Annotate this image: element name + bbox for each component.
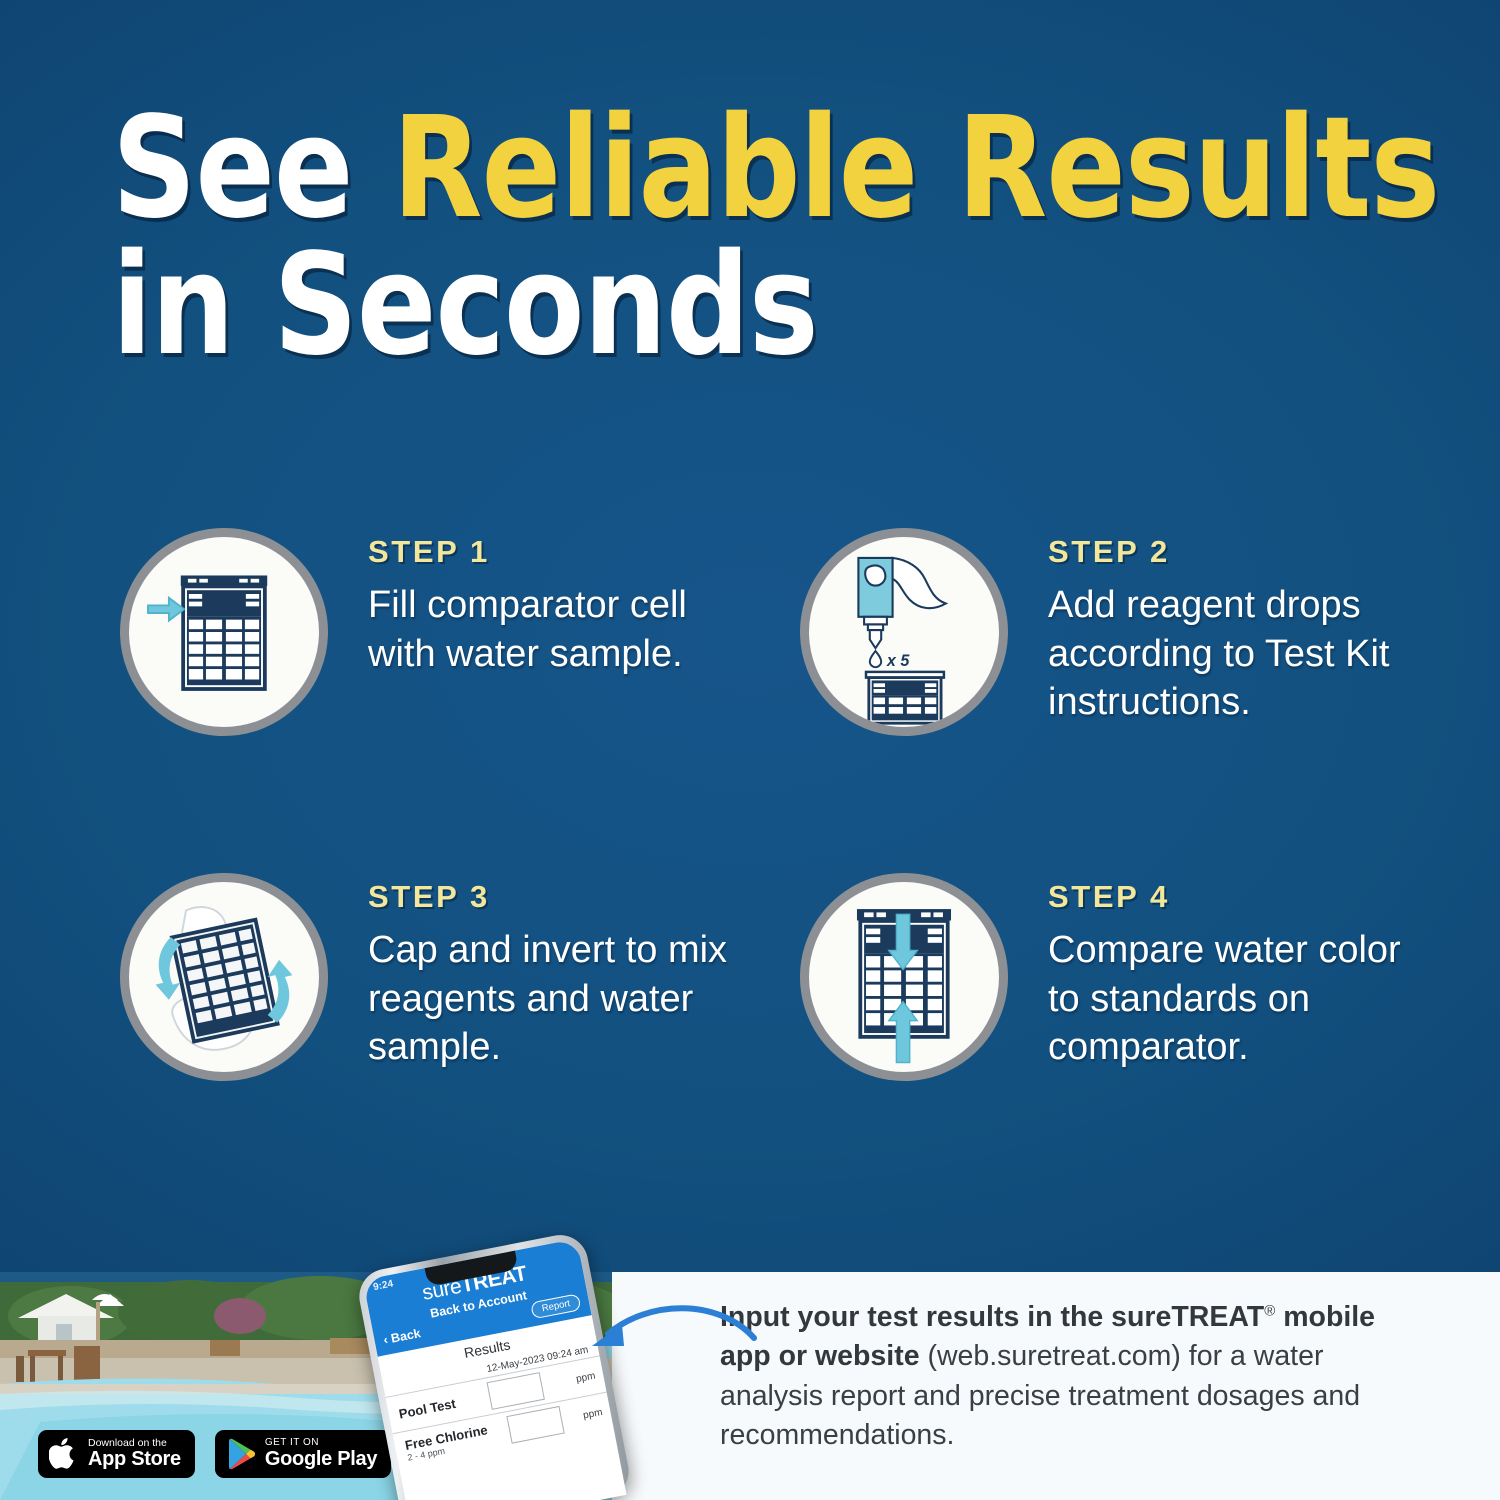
step-2-icon-circle: x 5 bbox=[800, 528, 1008, 736]
step-1-description: Fill comparator cell with water sample. bbox=[368, 581, 758, 678]
callout-arrow-icon bbox=[578, 1290, 758, 1380]
step-3-text: STEP 3 Cap and invert to mix reagents an… bbox=[368, 857, 758, 1072]
step-card-3: STEP 3 Cap and invert to mix reagents an… bbox=[120, 857, 800, 1202]
comparator-cell-fill-icon bbox=[129, 537, 319, 727]
callout-bold-1: Input your test results in the sureTREAT bbox=[720, 1301, 1264, 1333]
fill-arrow-icon bbox=[148, 598, 184, 621]
google-play-logo-icon bbox=[226, 1437, 256, 1471]
step-1-icon-circle bbox=[120, 528, 328, 736]
back-button-label: Back bbox=[390, 1326, 422, 1345]
row-name: Pool Test bbox=[397, 1395, 456, 1421]
apple-logo-icon bbox=[49, 1437, 79, 1471]
step-2-text: STEP 2 Add reagent drops according to Te… bbox=[1048, 512, 1410, 727]
headline-line-1: See Reliable Results bbox=[112, 100, 1340, 237]
step-card-1: STEP 1 Fill comparator cell with water s… bbox=[120, 512, 800, 857]
store-badges: Download on the App Store GET IT ON Goog… bbox=[38, 1430, 391, 1478]
step-card-2: x 5 STEP bbox=[800, 512, 1410, 857]
callout-text: Input your test results in the sureTREAT… bbox=[720, 1298, 1420, 1455]
row-unit: ppm bbox=[582, 1406, 603, 1421]
row-name: Free Chlorine2 - 4 ppm bbox=[404, 1422, 491, 1463]
steps-grid: STEP 1 Fill comparator cell with water s… bbox=[120, 512, 1410, 1202]
invert-comparator-hand-icon bbox=[129, 882, 319, 1072]
drop-count-label: x 5 bbox=[886, 652, 910, 670]
poster-canvas: See Reliable Results in Seconds bbox=[0, 0, 1500, 1500]
step-4-icon-circle bbox=[800, 873, 1008, 1081]
page-title: See Reliable Results in Seconds bbox=[112, 100, 1432, 374]
app-store-text: Download on the App Store bbox=[88, 1438, 181, 1470]
step-4-text: STEP 4 Compare water color to standards … bbox=[1048, 857, 1410, 1072]
row-value-input[interactable] bbox=[507, 1406, 565, 1444]
step-3-description: Cap and invert to mix reagents and water… bbox=[368, 926, 758, 1072]
step-card-4: STEP 4 Compare water color to standards … bbox=[800, 857, 1410, 1202]
registered-mark: ® bbox=[1264, 1303, 1275, 1320]
app-store-line2: App Store bbox=[88, 1449, 181, 1470]
headline-line-2: in Seconds bbox=[112, 237, 1340, 374]
step-4-label: STEP 4 bbox=[1048, 879, 1410, 915]
step-2-description: Add reagent drops according to Test Kit … bbox=[1048, 581, 1410, 727]
step-1-label: STEP 1 bbox=[368, 534, 758, 570]
step-2-label: STEP 2 bbox=[1048, 534, 1410, 570]
step-1-text: STEP 1 Fill comparator cell with water s… bbox=[368, 512, 758, 678]
step-4-description: Compare water color to standards on comp… bbox=[1048, 926, 1410, 1072]
compare-color-standards-icon bbox=[809, 882, 999, 1072]
google-play-text: GET IT ON Google Play bbox=[265, 1438, 377, 1470]
bottom-band: Input your test results in the sureTREAT… bbox=[0, 1272, 1500, 1500]
step-3-label: STEP 3 bbox=[368, 879, 758, 915]
app-store-badge[interactable]: Download on the App Store bbox=[38, 1430, 195, 1478]
google-play-badge[interactable]: GET IT ON Google Play bbox=[215, 1430, 391, 1478]
step-3-icon-circle bbox=[120, 873, 328, 1081]
reagent-dropper-bottle-icon: x 5 bbox=[809, 537, 999, 727]
google-play-line2: Google Play bbox=[265, 1449, 377, 1470]
